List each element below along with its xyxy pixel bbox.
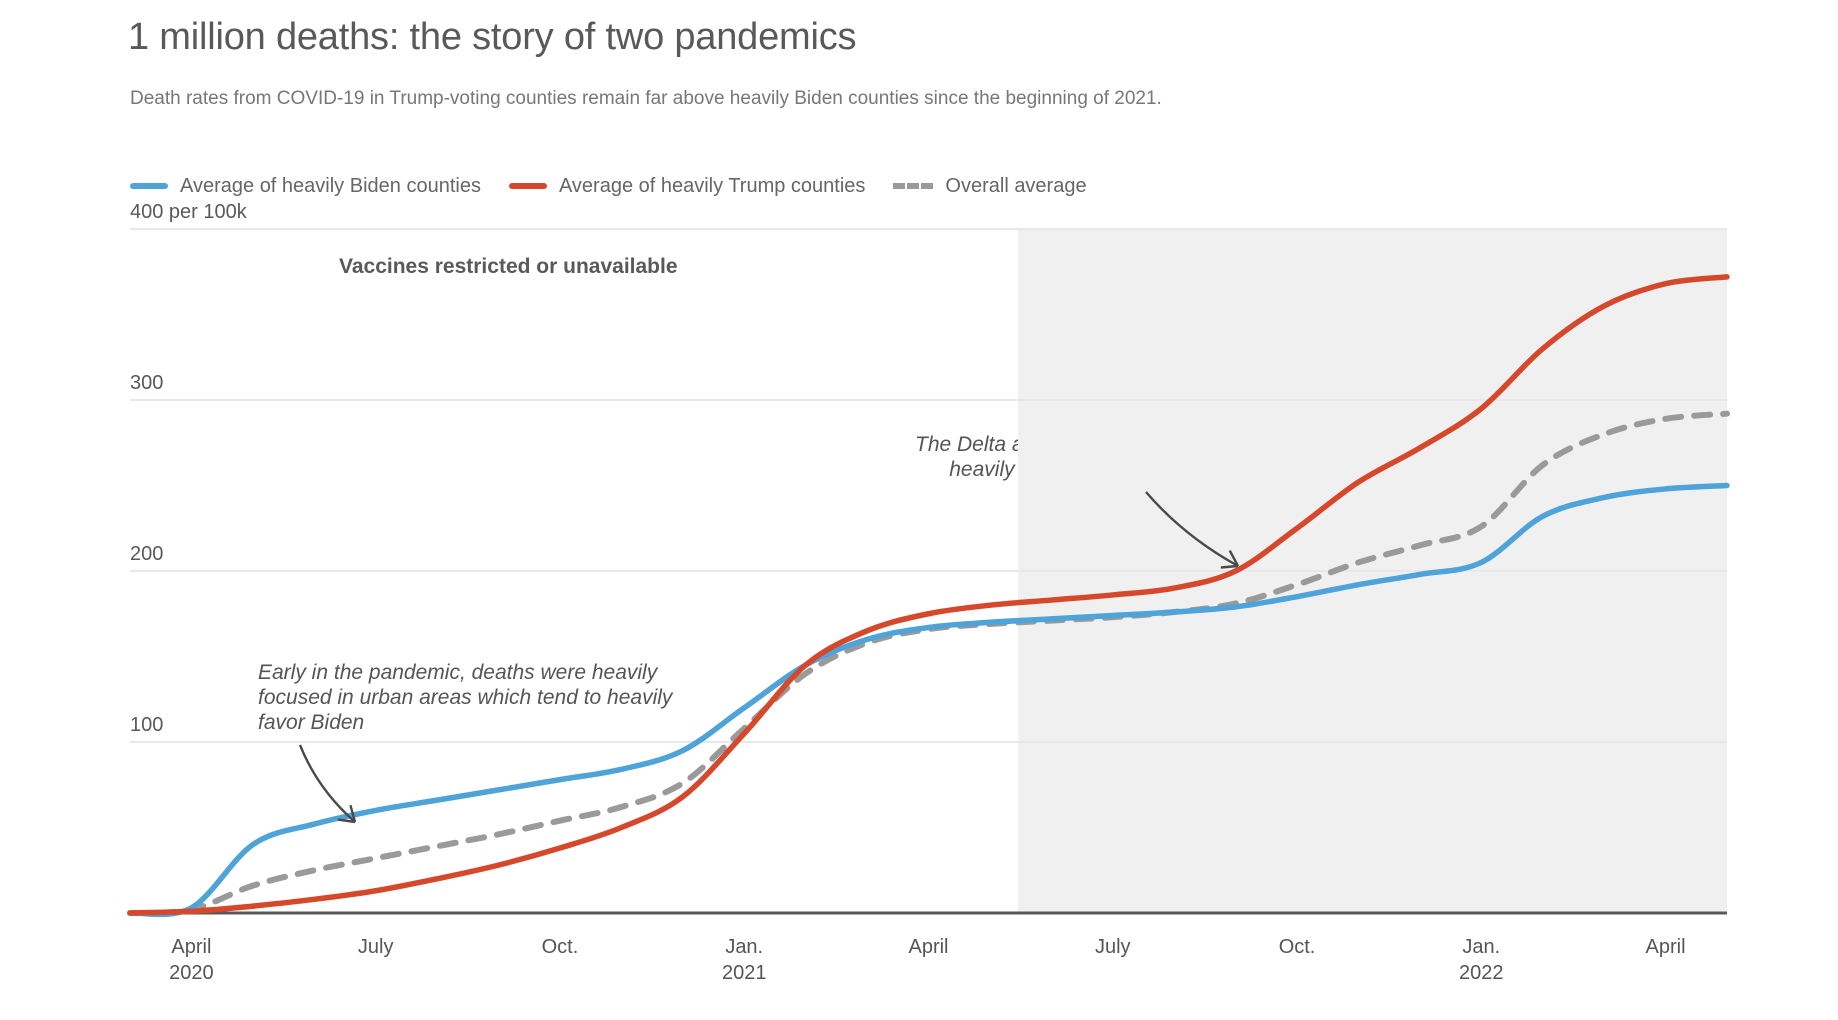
legend-item-biden[interactable]: Average of heavily Biden counties <box>130 175 481 198</box>
legend-item-trump[interactable]: Average of heavily Trump counties <box>509 175 865 198</box>
band-label-vaccines-restricted: Vaccines restricted or unavailable <box>339 255 678 279</box>
legend-swatch-biden <box>130 183 168 189</box>
x-axis-tick-label: July <box>1095 935 1131 961</box>
x-axis-tick-label: Jan.2021 <box>722 935 767 986</box>
x-axis-tick-label: Jan.2022 <box>1459 935 1504 986</box>
legend-label-overall: Overall average <box>945 175 1086 198</box>
chart-page: 1 million deaths: the story of two pande… <box>0 0 1838 1020</box>
annotation-early-pandemic: Early in the pandemic, deaths were heavi… <box>258 660 672 736</box>
x-axis-tick-label: July <box>358 935 394 961</box>
y-axis-tick-label: 300 <box>130 372 163 395</box>
x-axis-tick-year: 2020 <box>169 961 214 987</box>
legend-swatch-trump <box>509 183 547 189</box>
legend-label-trump: Average of heavily Trump counties <box>559 175 865 198</box>
legend-label-biden: Average of heavily Biden counties <box>180 175 481 198</box>
chart-legend: Average of heavily Biden counties Averag… <box>130 172 1115 200</box>
annotation-arrow-early-pandemic <box>300 745 355 822</box>
legend-item-overall[interactable]: Overall average <box>893 175 1086 198</box>
y-axis-tick-label: 400 per 100k <box>130 201 247 224</box>
x-axis-tick-year: 2021 <box>722 961 767 987</box>
y-axis-tick-label: 200 <box>130 543 163 566</box>
page-title: 1 million deaths: the story of two pande… <box>128 16 856 59</box>
series-line-trump <box>130 277 1727 913</box>
legend-swatch-overall <box>893 183 933 189</box>
shaded-band-vaccines-available <box>1018 229 1727 913</box>
x-axis-tick-year: 2022 <box>1459 961 1504 987</box>
y-axis-tick-label: 100 <box>130 714 163 737</box>
annotation-delta-omicron: The Delta and Omicron waves have hit hea… <box>915 432 1277 482</box>
x-axis-tick-label: April2020 <box>169 935 214 986</box>
annotation-arrow-early-pandemic-head <box>337 805 355 823</box>
annotation-arrow-delta-omicron-head <box>1217 550 1238 571</box>
x-axis-tick-label: Oct. <box>1279 935 1316 961</box>
page-subtitle: Death rates from COVID-19 in Trump-votin… <box>130 88 1162 110</box>
x-axis-tick-label: Oct. <box>542 935 579 961</box>
x-axis-tick-label: April <box>908 935 948 961</box>
annotation-arrow-delta-omicron <box>1146 492 1238 566</box>
x-axis-tick-label: April <box>1646 935 1686 961</box>
line-chart <box>0 0 1838 1020</box>
band-label-vaccines-available: Vaccines available <box>1280 255 1464 279</box>
